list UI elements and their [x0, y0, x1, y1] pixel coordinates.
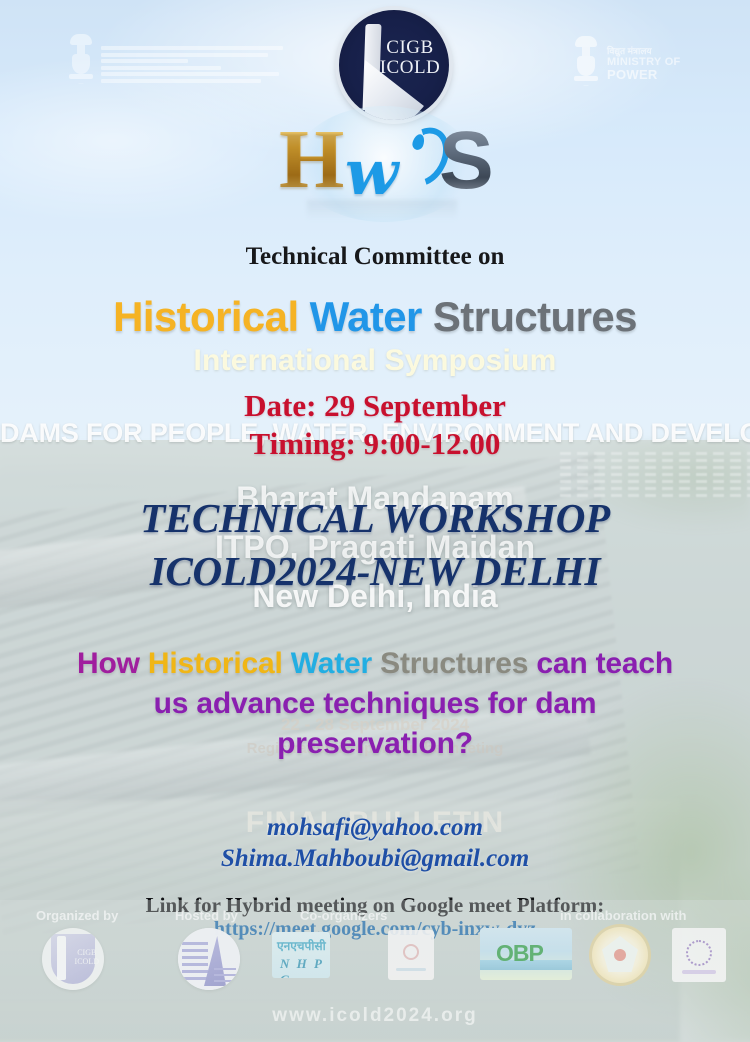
- footer-logo-host: [178, 928, 240, 990]
- question-line-3: preservation?: [0, 724, 750, 764]
- footer-logo-partner-7: [672, 928, 726, 982]
- icold-logo-line-2: ICOLD: [379, 58, 441, 78]
- icold-logo-line-1: CIGB: [379, 38, 441, 58]
- footer-icold-text-2: ICOLD: [75, 957, 99, 966]
- caption-hosted-by: Hosted by: [175, 908, 238, 923]
- footer-logo-cigb-icold: CIGB ICOLD: [42, 928, 104, 990]
- ashoka-pillar-icon: —: [573, 34, 599, 92]
- ministry-english-line-2: POWER: [607, 68, 681, 83]
- event-timing: Timing: 9:00-12.00: [0, 425, 750, 463]
- question-line-2: us advance techniques for dam: [0, 684, 750, 724]
- contact-email-2[interactable]: Shima.Mahboubi@gmail.com: [0, 843, 750, 874]
- title-word-water: Water: [310, 293, 422, 340]
- title-word-structures: Structures: [433, 293, 637, 340]
- caption-in-collaboration-with: in collaboration with: [560, 908, 686, 923]
- ashoka-pillar-icon: —: [68, 32, 94, 90]
- question-line-1: How Historical Water Structures can teac…: [0, 644, 750, 684]
- workshop-line-1: TECHNICAL WORKSHOP: [0, 492, 750, 545]
- ministry-of-power-emblem: — विद्युत मंत्रालय MINISTRY OF POWER: [573, 34, 738, 94]
- hws-letter-w: w: [345, 142, 398, 204]
- footer-logo-gold-seal: [592, 927, 648, 983]
- contact-emails: mohsafi@yahoo.com Shima.Mahboubi@gmail.c…: [0, 812, 750, 874]
- caption-organized-by: Organized by: [36, 908, 118, 923]
- emblem-left-text-lines: [101, 32, 283, 94]
- poster-root: International Symposium DAMS FOR PEOPLE,…: [0, 0, 750, 1042]
- hws-letter-s: S: [439, 120, 494, 202]
- hws-letter-h: H: [279, 118, 344, 202]
- question-word-water: Water: [291, 647, 380, 680]
- caption-co-organizers: Co-organizers: [300, 908, 387, 923]
- obp-label: OBP: [496, 940, 543, 967]
- workshop-title: TECHNICAL WORKSHOP ICOLD2024-NEW DELHI: [0, 492, 750, 598]
- event-date: Date: 29 September: [0, 387, 750, 425]
- footer-logo-partner-4: [388, 930, 434, 980]
- workshop-question: How Historical Water Structures can teac…: [0, 644, 750, 764]
- hws-reflection: [307, 200, 457, 220]
- cigb-icold-logo: CIGB ICOLD: [339, 10, 449, 120]
- footer-logo-nhpc: एनएचपीसी N H P C: [272, 932, 330, 978]
- poster-title: Historical Water Structures: [0, 292, 750, 342]
- footer-logo-obp: OBP: [480, 928, 572, 980]
- technical-committee-label: Technical Committee on: [0, 243, 750, 271]
- ministry-of-power-text: विद्युत मंत्रालय MINISTRY OF POWER: [607, 34, 681, 94]
- question-word-how: How: [77, 647, 148, 680]
- question-word-structures: Structures: [380, 647, 536, 680]
- workshop-line-2: ICOLD2024-NEW DELHI: [0, 545, 750, 598]
- nhpc-hindi-label: एनएचपीसी: [277, 937, 326, 954]
- title-word-historical: Historical: [113, 293, 298, 340]
- ministry-hindi-label: विद्युत मंत्रालय: [607, 46, 681, 56]
- government-of-india-emblem: —: [68, 32, 283, 94]
- question-word-can-teach: can teach: [536, 647, 673, 680]
- hws-wordmark: H w S: [273, 112, 495, 220]
- footer-icold-text-1: CIGB: [75, 948, 99, 957]
- question-word-historical: Historical: [148, 647, 291, 680]
- contact-email-1[interactable]: mohsafi@yahoo.com: [0, 812, 750, 843]
- footer-logo-strip: Organized by Hosted by Co-organizers in …: [0, 900, 750, 1010]
- nhpc-abbr-label: N H P C: [280, 956, 330, 978]
- schedule-block: Date: 29 September Timing: 9:00-12.00: [0, 387, 750, 463]
